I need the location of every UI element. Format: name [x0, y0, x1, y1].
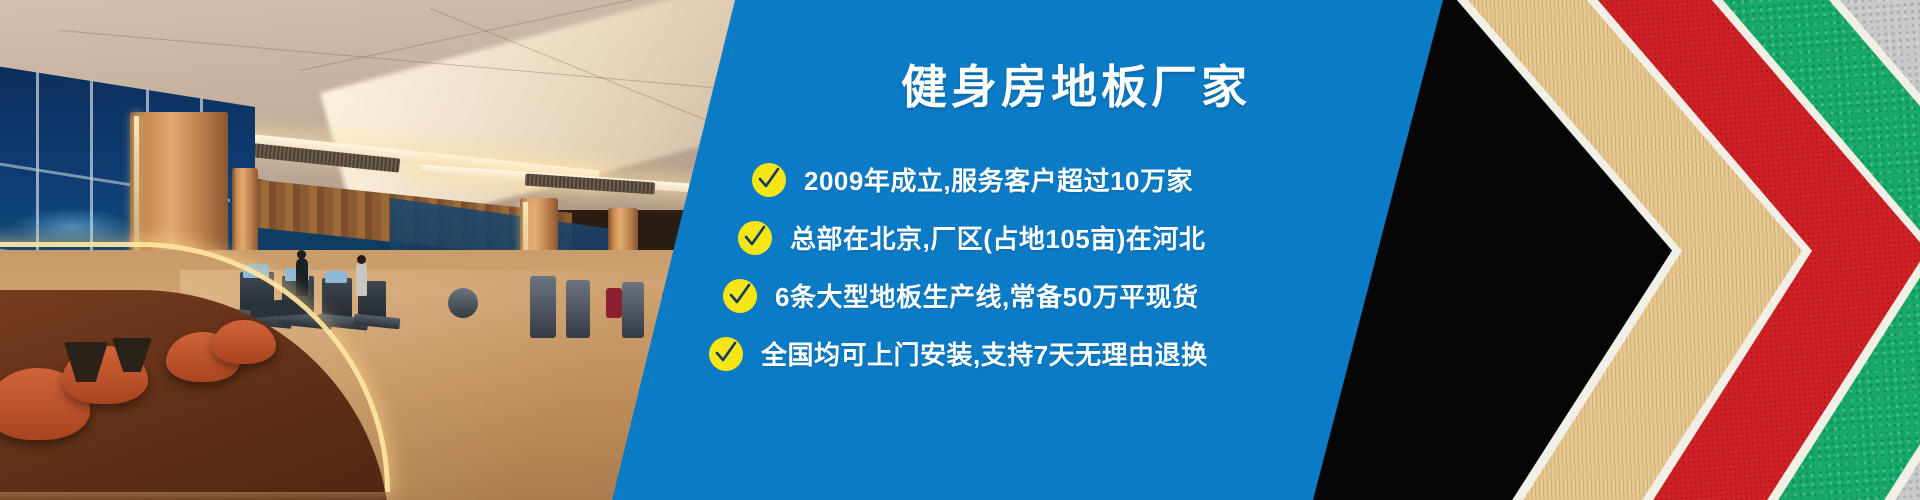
window-night-glow — [12, 208, 132, 246]
list-item: 全国均可上门安装,支持7天无理由退换 — [610, 326, 1450, 381]
treadmill-screen — [325, 271, 347, 283]
exercise-bike — [448, 288, 478, 318]
gym-user — [356, 262, 367, 296]
gym-user-head — [357, 255, 366, 264]
gym-user — [296, 258, 308, 296]
list-item-label: 总部在北京,厂区(占地105亩)在河北 — [790, 219, 1205, 256]
strength-machine — [566, 280, 590, 338]
check-circle-icon — [709, 337, 743, 371]
page-title: 健身房地板厂家 — [610, 62, 1450, 113]
list-item: 总部在北京,厂区(占地105亩)在河北 — [610, 210, 1450, 265]
list-item: 6条大型地板生产线,常备50万平现货 — [610, 268, 1450, 323]
list-item: 2009年成立,服务客户超过10万家 — [610, 152, 1450, 207]
list-item-label: 6条大型地板生产线,常备50万平现货 — [775, 277, 1199, 314]
feature-list: 2009年成立,服务客户超过10万家 总部在北京,厂区(占地105亩)在河北 6… — [610, 152, 1450, 384]
lounge-pouf — [212, 320, 276, 364]
check-circle-icon — [723, 279, 757, 313]
list-item-label: 2009年成立,服务客户超过10万家 — [804, 161, 1193, 198]
panel-content: 健身房地板厂家 2009年成立,服务客户超过10万家 总部在北京,厂区(占地10… — [610, 0, 1450, 500]
gym-floor-banner: 健身房地板厂家 2009年成立,服务客户超过10万家 总部在北京,厂区(占地10… — [0, 0, 1920, 500]
list-item-label: 全国均可上门安装,支持7天无理由退换 — [761, 335, 1208, 372]
check-circle-icon — [738, 221, 772, 255]
gym-user-head — [297, 250, 306, 259]
check-circle-icon — [752, 163, 786, 197]
strength-machine — [530, 276, 556, 338]
